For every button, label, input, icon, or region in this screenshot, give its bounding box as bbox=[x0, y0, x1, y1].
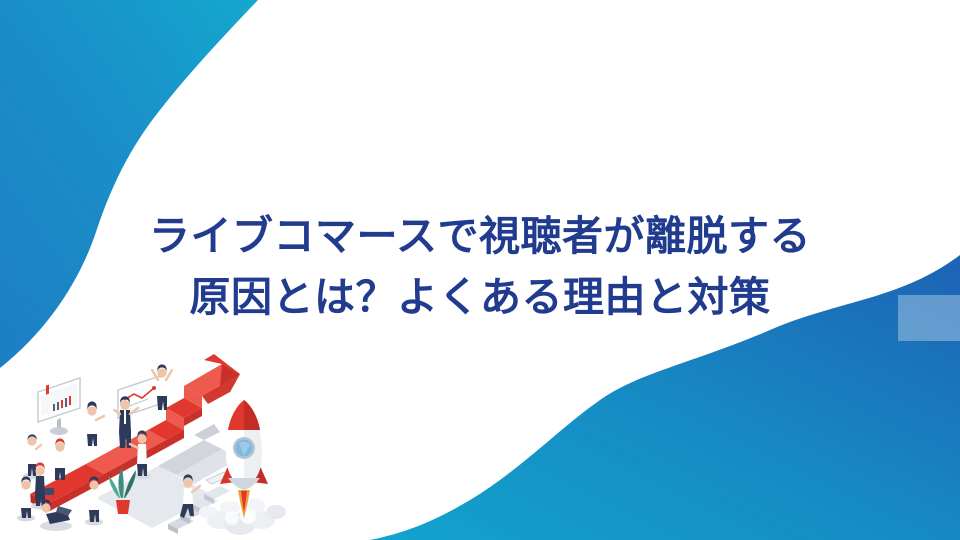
slide-canvas: ライブコマースで視聴者が離脱する 原因とは？よくある理由と対策 bbox=[0, 0, 960, 540]
slide-title: ライブコマースで視聴者が離脱する 原因とは？よくある理由と対策 bbox=[0, 206, 960, 327]
monitor-chart-icon bbox=[38, 378, 80, 435]
isometric-business-growth-illustration bbox=[8, 348, 304, 540]
title-line-1: ライブコマースで視聴者が離脱する bbox=[0, 206, 960, 267]
person-figure bbox=[87, 401, 104, 446]
person-figure bbox=[55, 438, 65, 480]
title-line-2: 原因とは？よくある理由と対策 bbox=[0, 267, 960, 328]
